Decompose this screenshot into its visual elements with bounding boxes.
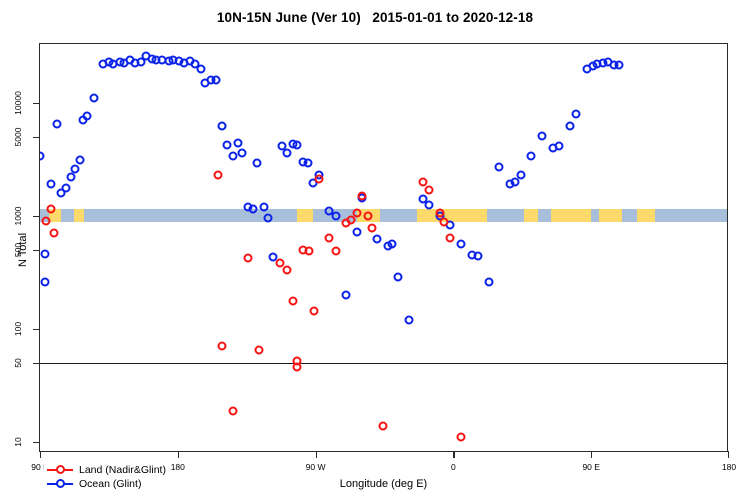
y-axis-tick — [33, 442, 40, 443]
x-axis-tick-label: 90 W — [306, 462, 326, 472]
legend-item-label: Ocean (Glint) — [79, 478, 141, 490]
y-axis-tick — [33, 103, 40, 104]
data-point-ocean — [75, 156, 84, 165]
data-point-land — [244, 254, 253, 263]
data-point-ocean — [457, 240, 466, 249]
data-point-ocean — [222, 141, 231, 150]
legend-marker-icon — [47, 478, 73, 490]
data-point-ocean — [46, 180, 55, 189]
data-point-ocean — [238, 148, 247, 157]
data-point-ocean — [89, 93, 98, 102]
data-point-land — [352, 209, 361, 218]
data-point-ocean — [516, 170, 525, 179]
data-point-ocean — [565, 122, 574, 131]
data-point-ocean — [196, 64, 205, 73]
data-point-land — [282, 266, 291, 275]
data-point-ocean — [555, 142, 564, 151]
data-point-ocean — [571, 109, 580, 118]
data-point-ocean — [484, 277, 493, 286]
y-axis-tick-label: 100 — [12, 317, 24, 341]
ocean-coverage-band — [40, 209, 727, 222]
data-point-land — [218, 342, 227, 351]
data-point-ocean — [259, 202, 268, 211]
data-point-land — [42, 216, 51, 225]
chart-canvas: 10N-15N June (Ver 10) 2015-01-01 to 2020… — [0, 0, 750, 500]
land-coverage-band — [637, 209, 655, 222]
data-point-ocean — [40, 277, 49, 286]
data-point-ocean — [40, 249, 49, 258]
data-point-ocean — [264, 214, 273, 223]
data-point-ocean — [71, 164, 80, 173]
data-point-ocean — [495, 162, 504, 171]
data-point-ocean — [331, 211, 340, 220]
data-point-ocean — [282, 148, 291, 157]
x-axis-tick — [40, 451, 41, 458]
data-point-ocean — [303, 159, 312, 168]
data-point-ocean — [293, 141, 302, 150]
data-point-land — [378, 421, 387, 430]
x-axis-tick — [591, 451, 592, 458]
data-point-ocean — [52, 119, 61, 128]
land-coverage-band — [74, 209, 85, 222]
data-point-land — [310, 306, 319, 315]
data-point-land — [446, 234, 455, 243]
land-coverage-band — [297, 209, 312, 222]
y-axis-tick — [33, 137, 40, 138]
data-point-ocean — [253, 159, 262, 168]
data-point-ocean — [40, 151, 45, 160]
land-coverage-band — [524, 209, 538, 222]
reference-line — [40, 363, 727, 364]
data-point-ocean — [372, 235, 381, 244]
data-point-ocean — [212, 75, 221, 84]
data-point-ocean — [248, 204, 257, 213]
y-axis-tick-label: 1000 — [12, 204, 24, 228]
y-axis-tick-label: 10 — [12, 430, 24, 454]
x-axis-tick — [728, 451, 729, 458]
data-point-land — [331, 246, 340, 255]
data-point-land — [424, 185, 433, 194]
legend-marker-icon — [47, 464, 73, 476]
y-axis-tick-label: 10000 — [12, 91, 24, 115]
plot-area — [40, 44, 727, 451]
data-point-ocean — [342, 290, 351, 299]
x-axis-tick-label: 90 E — [582, 462, 600, 472]
data-point-land — [435, 209, 444, 218]
data-point-ocean — [388, 240, 397, 249]
data-point-land — [49, 229, 58, 238]
data-point-land — [293, 363, 302, 372]
data-point-land — [368, 223, 377, 232]
data-point-land — [213, 170, 222, 179]
data-point-ocean — [404, 315, 413, 324]
chart-title: 10N-15N June (Ver 10) 2015-01-01 to 2020… — [0, 10, 750, 25]
data-point-land — [363, 211, 372, 220]
x-axis-tick — [178, 451, 179, 458]
data-point-ocean — [83, 112, 92, 121]
data-point-land — [314, 175, 323, 184]
data-point-ocean — [614, 61, 623, 70]
data-point-land — [254, 346, 263, 355]
legend-item[interactable]: Ocean (Glint) — [47, 477, 166, 491]
data-point-ocean — [527, 151, 536, 160]
x-axis-tick-label: 180 — [722, 462, 736, 472]
data-point-land — [305, 246, 314, 255]
y-axis-tick — [33, 363, 40, 364]
data-point-ocean — [394, 272, 403, 281]
data-point-ocean — [473, 252, 482, 261]
x-axis-tick-label: 180 — [171, 462, 185, 472]
data-point-land — [325, 233, 334, 242]
data-point-ocean — [352, 227, 361, 236]
land-coverage-band — [551, 209, 591, 222]
data-point-ocean — [66, 173, 75, 182]
plot-frame: 1050100500100050001000090 E18090 W090 E1… — [39, 43, 728, 452]
legend-item-label: Land (Nadir&Glint) — [79, 464, 166, 476]
y-axis-tick — [33, 216, 40, 217]
data-point-land — [457, 433, 466, 442]
y-axis-tick-label: 50 — [12, 351, 24, 375]
data-point-land — [357, 191, 366, 200]
chart-legend: Land (Nadir&Glint)Ocean (Glint) — [44, 462, 169, 492]
y-axis-tick-label: 5000 — [12, 125, 24, 149]
legend-item[interactable]: Land (Nadir&Glint) — [47, 463, 166, 477]
data-point-land — [288, 297, 297, 306]
x-axis-tick-label: 0 — [451, 462, 456, 472]
data-point-ocean — [538, 131, 547, 140]
data-point-ocean — [424, 200, 433, 209]
y-axis-tick — [33, 329, 40, 330]
data-point-ocean — [62, 184, 71, 193]
y-axis-tick — [33, 250, 40, 251]
data-point-ocean — [233, 138, 242, 147]
data-point-land — [440, 218, 449, 227]
land-coverage-band — [599, 209, 622, 222]
y-axis-tick-label: 500 — [12, 238, 24, 262]
data-point-ocean — [218, 122, 227, 131]
x-axis-tick — [453, 451, 454, 458]
x-axis-tick — [316, 451, 317, 458]
data-point-land — [46, 204, 55, 213]
data-point-land — [228, 406, 237, 415]
data-point-ocean — [228, 151, 237, 160]
